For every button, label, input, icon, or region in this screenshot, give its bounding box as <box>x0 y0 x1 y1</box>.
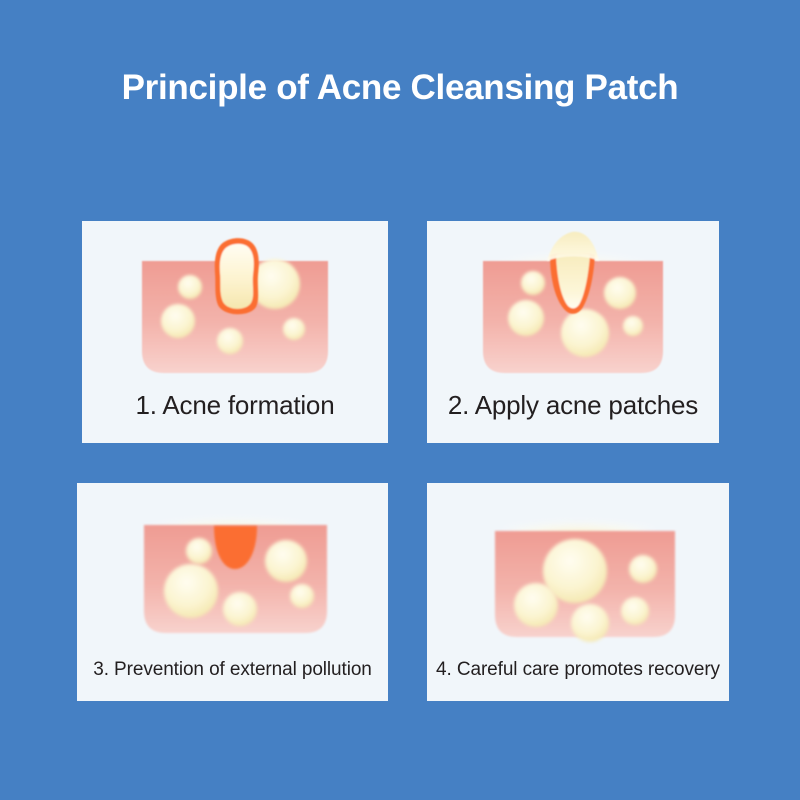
sebum-bubble <box>217 328 243 354</box>
panel-caption-4: 4. Careful care promotes recovery <box>427 659 729 681</box>
sebum-bubble <box>223 592 257 626</box>
sebum-bubble <box>621 597 649 625</box>
sebum-bubble <box>265 540 307 582</box>
sebum-bubble <box>521 271 545 295</box>
panel-card-1[interactable]: 1. Acne formation <box>82 221 388 443</box>
panel-card-4[interactable]: 4. Careful care promotes recovery <box>427 483 729 701</box>
sebum-bubble <box>561 309 609 357</box>
sebum-bubble <box>623 316 643 336</box>
sebum-bubble <box>629 555 657 583</box>
panel-caption-1: 1. Acne formation <box>82 390 388 421</box>
sebum-bubble <box>283 318 305 340</box>
sebum-bubble <box>604 277 636 309</box>
panel-caption-3: 3. Prevention of external pollution <box>77 659 388 681</box>
page-title: Principle of Acne Cleansing Patch <box>0 66 800 110</box>
sebum-bubble <box>514 583 558 627</box>
sebum-bubble <box>178 275 202 299</box>
panel-card-2[interactable]: 2. Apply acne patches <box>427 221 719 443</box>
sebum-bubble <box>161 304 195 338</box>
infographic-root: Principle of Acne Cleansing Patch <box>0 0 800 800</box>
sebum-bubble <box>290 584 314 608</box>
sebum-bubble <box>164 564 218 618</box>
panel-caption-2: 2. Apply acne patches <box>427 390 719 421</box>
sebum-bubble <box>186 538 212 564</box>
acne-bump-outward <box>215 238 259 314</box>
acne-pus-core <box>220 244 254 309</box>
panel-card-3[interactable]: 3. Prevention of external pollution <box>77 483 388 701</box>
sebum-bubble <box>571 604 609 642</box>
sebum-bubble <box>508 300 544 336</box>
